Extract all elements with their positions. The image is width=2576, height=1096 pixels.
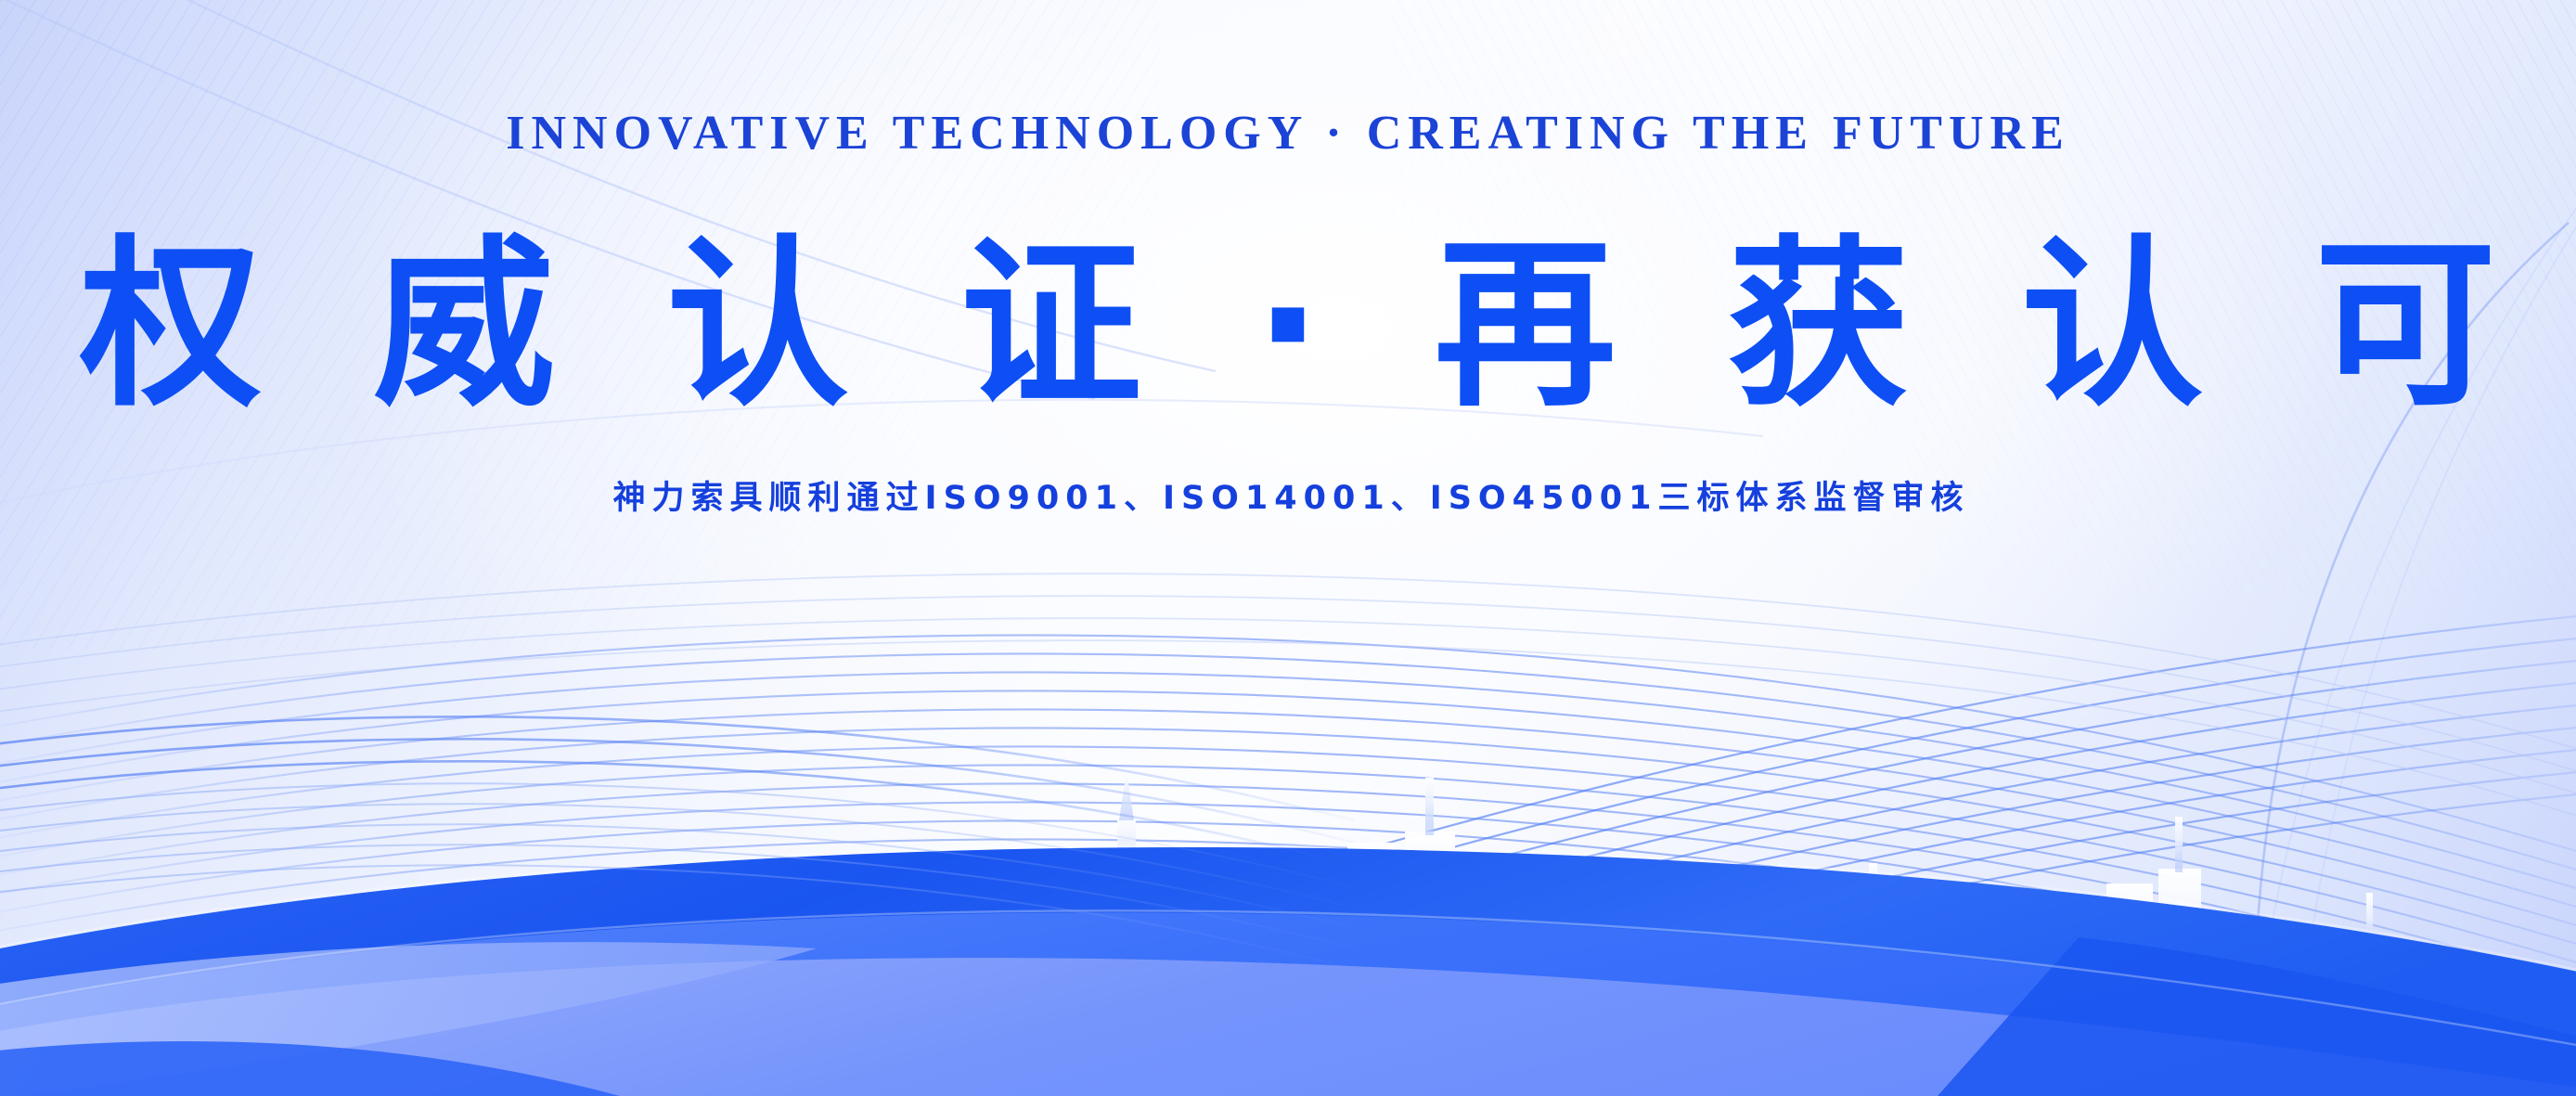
banner-text-block: INNOVATIVE TECHNOLOGY · CREATING THE FUT… [0,0,2576,515]
page-title: 权 威 认 证 · 再 获 认 可 [0,230,2576,423]
certification-banner: INNOVATIVE TECHNOLOGY · CREATING THE FUT… [0,0,2576,1096]
banner-eyebrow: INNOVATIVE TECHNOLOGY · CREATING THE FUT… [0,110,2576,158]
banner-subtitle: 神力索具顺利通过ISO9001、ISO14001、ISO45001三标体系监督审… [0,483,2576,515]
